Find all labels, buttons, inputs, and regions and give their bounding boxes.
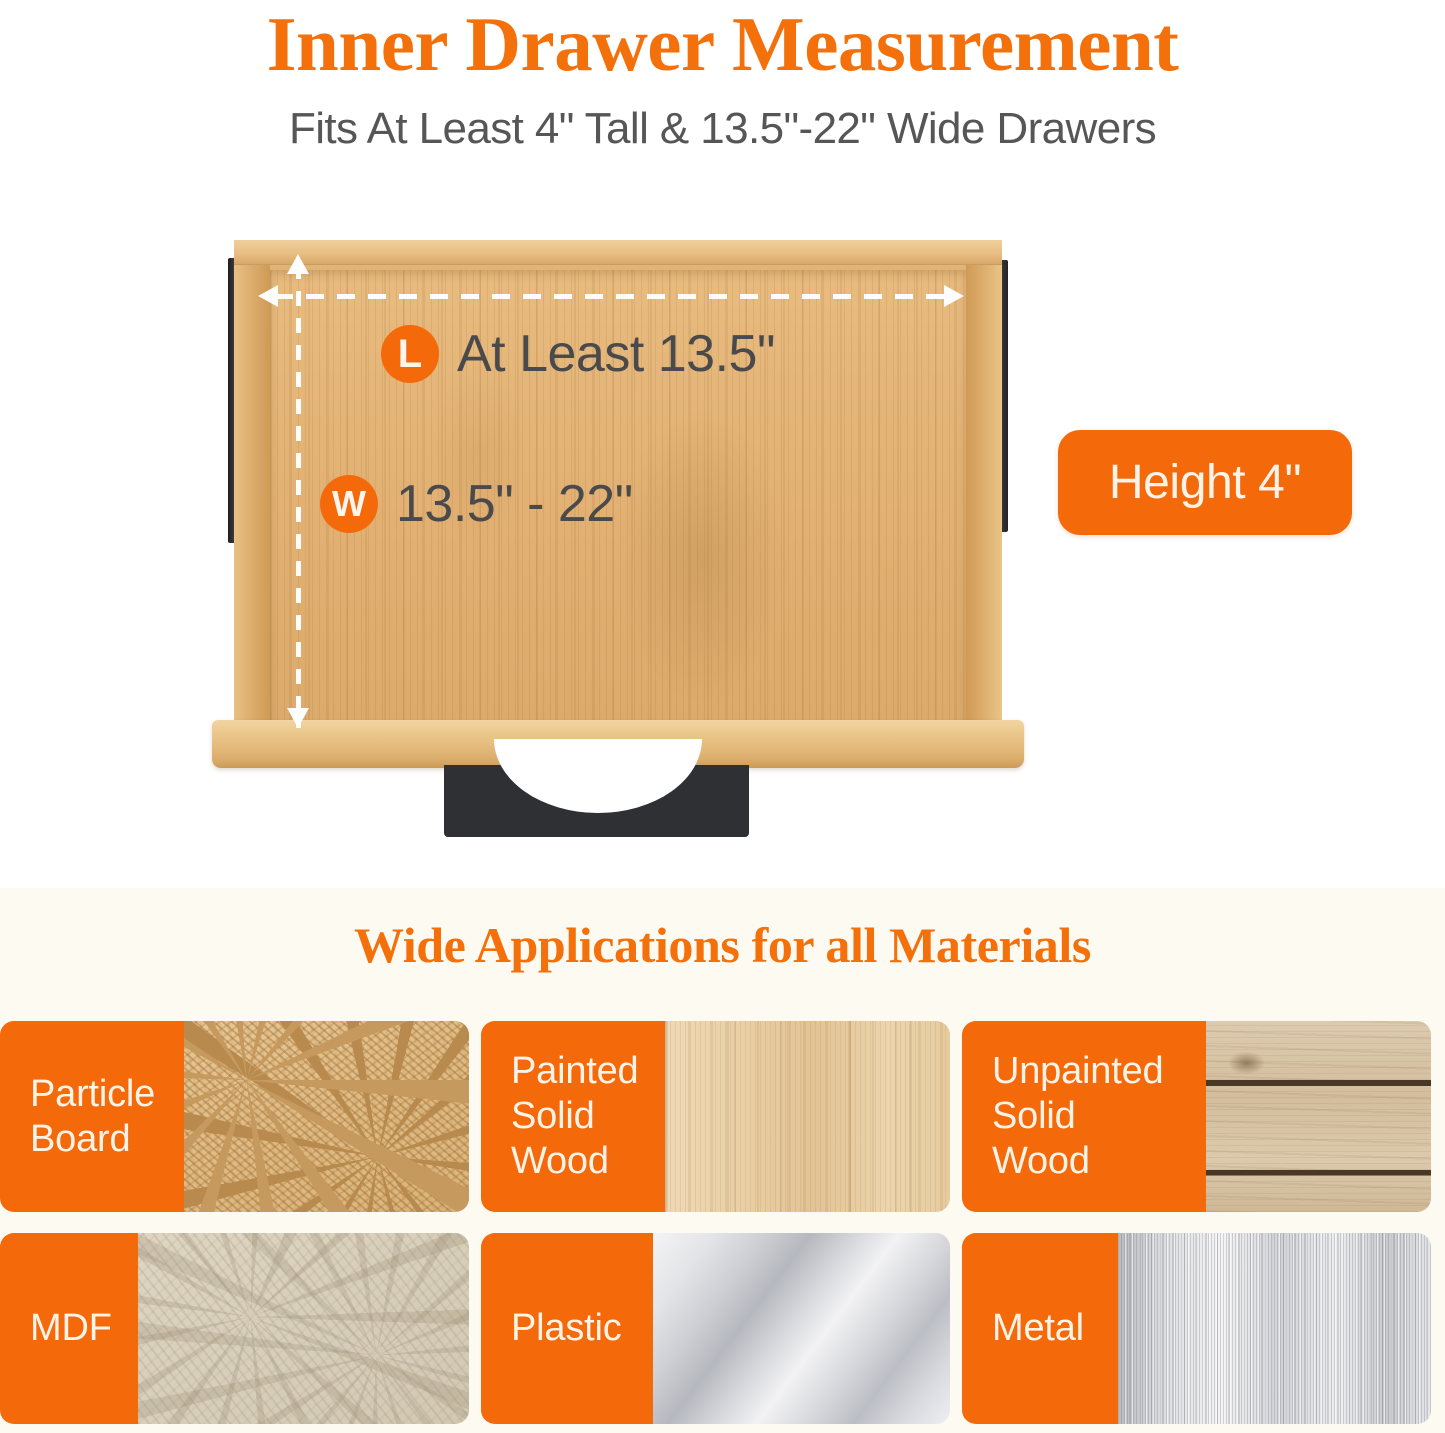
mdf-texture [138, 1233, 469, 1424]
arrow-down-icon [287, 708, 309, 728]
materials-section: Wide Applications for all Materials Part… [0, 888, 1445, 1433]
material-label: Plastic [481, 1233, 653, 1424]
length-measurement-label: L At Least 13.5" [381, 324, 775, 384]
bracket-arc-cutout [494, 739, 702, 813]
width-badge-icon: W [320, 475, 378, 533]
length-measurement-text: At Least 13.5" [457, 324, 775, 384]
drawer-top-rim [234, 240, 1002, 265]
material-tile: MDF [0, 1233, 469, 1424]
material-tile: PaintedSolidWood [481, 1021, 950, 1212]
length-dashed-line [275, 294, 947, 299]
page-title: Inner Drawer Measurement [0, 6, 1445, 83]
material-label-text: ParticleBoard [30, 1072, 155, 1162]
arrow-left-icon [258, 285, 278, 307]
measurement-section: Inner Drawer Measurement Fits At Least 4… [0, 0, 1445, 888]
material-label: UnpaintedSolidWood [962, 1021, 1206, 1212]
drawer-wall-left [234, 260, 270, 730]
material-tile: Plastic [481, 1233, 950, 1424]
material-label-text: UnpaintedSolidWood [992, 1049, 1163, 1183]
length-badge-icon: L [381, 325, 439, 383]
width-measurement-label: W 13.5" - 22" [320, 474, 633, 534]
material-label-text: PaintedSolidWood [511, 1049, 638, 1183]
arrow-right-icon [944, 285, 964, 307]
material-tile: UnpaintedSolidWood [962, 1021, 1431, 1212]
material-label-text: Metal [992, 1306, 1084, 1351]
material-tile: ParticleBoard [0, 1021, 469, 1212]
material-label: ParticleBoard [0, 1021, 184, 1212]
height-badge: Height 4" [1058, 430, 1352, 535]
material-tile: Metal [962, 1233, 1431, 1424]
drawer-mounting-bracket [444, 765, 749, 837]
unpainted-solid-wood-texture [1206, 1021, 1431, 1212]
width-dashed-line [296, 264, 301, 728]
metal-texture [1118, 1233, 1431, 1424]
drawer-wall-right [966, 260, 1002, 730]
plastic-texture [653, 1233, 950, 1424]
material-label: PaintedSolidWood [481, 1021, 665, 1212]
width-measurement-text: 13.5" - 22" [396, 474, 633, 534]
painted-solid-wood-texture [665, 1021, 950, 1212]
arrow-up-icon [287, 254, 309, 274]
drawer-illustration: L At Least 13.5" W 13.5" - 22" [196, 228, 1044, 808]
material-label: MDF [0, 1233, 138, 1424]
material-label-text: Plastic [511, 1306, 622, 1351]
materials-title: Wide Applications for all Materials [0, 916, 1445, 974]
page-subtitle: Fits At Least 4" Tall & 13.5"-22" Wide D… [0, 104, 1445, 154]
material-label-text: MDF [30, 1306, 112, 1351]
material-label: Metal [962, 1233, 1118, 1424]
particle-board-texture [184, 1021, 469, 1212]
materials-grid: ParticleBoardPaintedSolidWoodUnpaintedSo… [0, 1021, 1445, 1433]
